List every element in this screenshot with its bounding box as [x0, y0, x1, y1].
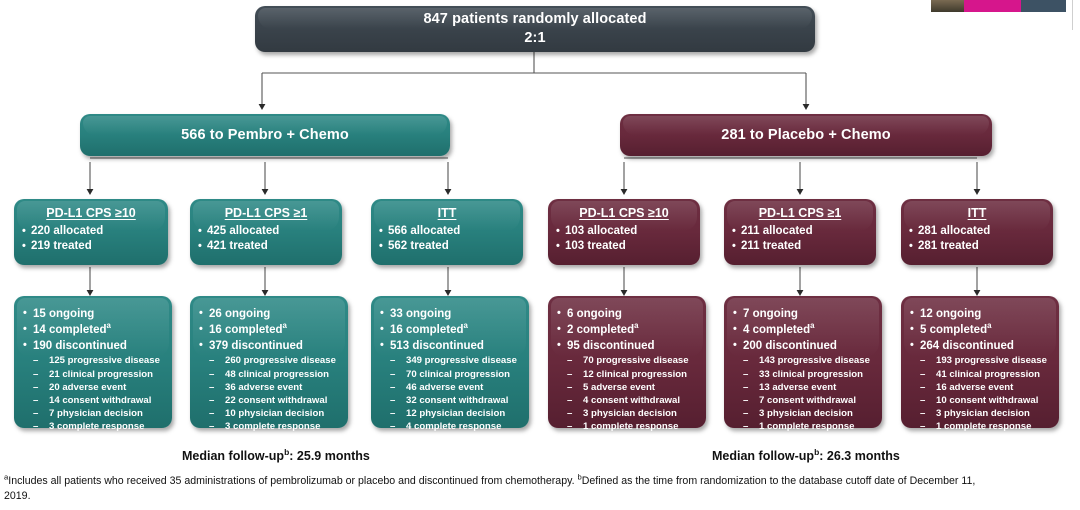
allocation-line: 211 treated: [732, 239, 868, 254]
footnote-text-a: Includes all patients who received 35 ad…: [8, 475, 577, 487]
outcome-reason: 1 complete response: [910, 420, 1053, 433]
outcome-reason: 41 clinical progression: [910, 368, 1053, 381]
allocation-line: 566 allocated: [379, 224, 515, 239]
outcome-ongoing: 15 ongoing: [23, 306, 166, 322]
outcome-ongoing: 12 ongoing: [910, 306, 1053, 322]
outcome-box-placebo-cps1: 7 ongoing 4 completeda 200 discontinued …: [724, 296, 882, 428]
median-followup-pembro-value: : 25.9 months: [289, 449, 370, 463]
median-followup-pembro-prefix: Median follow-up: [182, 449, 284, 463]
allocation-title: PD-L1 CPS ≥10: [556, 206, 692, 220]
outcome-discontinued: 264 discontinued: [910, 338, 1053, 354]
allocation-box-placebo-itt: ITT 281 allocated 281 treated: [901, 199, 1053, 265]
outcome-reason: 4 complete response: [380, 420, 523, 433]
outcome-reason: 4 consent withdrawal: [557, 394, 700, 407]
footnotes: aIncludes all patients who received 35 a…: [4, 474, 1004, 504]
outcome-reason: 3 complete response: [199, 420, 342, 433]
footnote-marker-a: a: [107, 321, 111, 330]
outcome-discontinued: 190 discontinued: [23, 338, 166, 354]
allocation-line: 103 treated: [556, 239, 692, 254]
outcome-reason: 12 physician decision: [380, 407, 523, 420]
outcome-reason: 1 complete response: [733, 420, 876, 433]
outcome-reason: 12 clinical progression: [557, 368, 700, 381]
outcome-completed-text: 16 completed: [209, 324, 283, 336]
allocation-box-pembro-itt: ITT 566 allocated 562 treated: [371, 199, 523, 265]
allocation-title: ITT: [379, 206, 515, 220]
outcome-ongoing: 6 ongoing: [557, 306, 700, 322]
outcome-discontinued: 200 discontinued: [733, 338, 876, 354]
outcome-reason: 70 progressive disease: [557, 354, 700, 367]
outcome-reason: 10 physician decision: [199, 407, 342, 420]
outcome-reason: 3 physician decision: [910, 407, 1053, 420]
outcome-ongoing: 7 ongoing: [733, 306, 876, 322]
median-followup-placebo: Median follow-upb: 26.3 months: [712, 449, 900, 463]
median-followup-placebo-value: : 26.3 months: [819, 449, 900, 463]
outcome-ongoing: 26 ongoing: [199, 306, 342, 322]
allocation-box-pembro-cps1: PD-L1 CPS ≥1 425 allocated 421 treated: [190, 199, 342, 265]
footnote-marker-a: a: [987, 321, 991, 330]
allocation-line: 211 allocated: [732, 224, 868, 239]
outcome-box-pembro-cps10: 15 ongoing 14 completeda 190 discontinue…: [14, 296, 172, 428]
outcome-reason: 5 adverse event: [557, 381, 700, 394]
allocation-title: PD-L1 CPS ≥10: [22, 206, 160, 220]
outcome-completed: 16 completeda: [380, 322, 523, 338]
footnote-marker-a: a: [464, 321, 468, 330]
allocation-title: ITT: [909, 206, 1045, 220]
arm-header-pembro: 566 to Pembro + Chemo: [80, 114, 450, 156]
outcome-discontinued: 379 discontinued: [199, 338, 342, 354]
allocation-line: 103 allocated: [556, 224, 692, 239]
allocation-line: 281 allocated: [909, 224, 1045, 239]
outcome-completed: 2 completeda: [557, 322, 700, 338]
outcome-reason: 14 consent withdrawal: [23, 394, 166, 407]
outcome-reason: 48 clinical progression: [199, 368, 342, 381]
footnote-marker-a: a: [283, 321, 287, 330]
title-line-1: 847 patients randomly allocated: [423, 11, 646, 27]
footnote-marker-a: a: [810, 321, 814, 330]
allocation-line: 562 treated: [379, 239, 515, 254]
randomization-title-box: 847 patients randomly allocated 2:1: [255, 6, 815, 52]
outcome-completed: 14 completeda: [23, 322, 166, 338]
outcome-box-pembro-itt: 33 ongoing 16 completeda 513 discontinue…: [371, 296, 529, 428]
outcome-reason: 349 progressive disease: [380, 354, 523, 367]
outcome-ongoing: 33 ongoing: [380, 306, 523, 322]
outcome-reason: 193 progressive disease: [910, 354, 1053, 367]
title-line-2: 2:1: [524, 30, 545, 46]
outcome-reason: 36 adverse event: [199, 381, 342, 394]
allocation-title: PD-L1 CPS ≥1: [198, 206, 334, 220]
arm-header-placebo: 281 to Placebo + Chemo: [620, 114, 992, 156]
arm-header-placebo-label: 281 to Placebo + Chemo: [721, 127, 890, 143]
outcome-box-placebo-cps10: 6 ongoing 2 completeda 95 discontinued 7…: [548, 296, 706, 428]
allocation-title: PD-L1 CPS ≥1: [732, 206, 868, 220]
allocation-line: 220 allocated: [22, 224, 160, 239]
outcome-reason: 20 adverse event: [23, 381, 166, 394]
outcome-reason: 32 consent withdrawal: [380, 394, 523, 407]
outcome-reason: 21 clinical progression: [23, 368, 166, 381]
median-followup-pembro: Median follow-upb: 25.9 months: [182, 449, 370, 463]
outcome-reason: 143 progressive disease: [733, 354, 876, 367]
outcome-reason: 46 adverse event: [380, 381, 523, 394]
allocation-box-placebo-cps1: PD-L1 CPS ≥1 211 allocated 211 treated: [724, 199, 876, 265]
allocation-box-pembro-cps10: PD-L1 CPS ≥10 220 allocated 219 treated: [14, 199, 168, 265]
outcome-reason: 260 progressive disease: [199, 354, 342, 367]
allocation-line: 421 treated: [198, 239, 334, 254]
outcome-reason: 13 adverse event: [733, 381, 876, 394]
footnote-marker-a: a: [634, 321, 638, 330]
allocation-line: 281 treated: [909, 239, 1045, 254]
flow-diagram-slide: 847 patients randomly allocated 2:1 566 …: [0, 0, 1080, 510]
outcome-completed: 5 completeda: [910, 322, 1053, 338]
outcome-reason: 10 consent withdrawal: [910, 394, 1053, 407]
outcome-reason: 70 clinical progression: [380, 368, 523, 381]
outcome-reason: 3 physician decision: [733, 407, 876, 420]
allocation-box-placebo-cps10: PD-L1 CPS ≥10 103 allocated 103 treated: [548, 199, 700, 265]
outcome-reason: 3 complete response: [23, 420, 166, 433]
outcome-completed: 4 completeda: [733, 322, 876, 338]
outcome-completed-text: 14 completed: [33, 324, 107, 336]
outcome-reason: 125 progressive disease: [23, 354, 166, 367]
outcome-completed-text: 4 completed: [743, 324, 810, 336]
outcome-discontinued: 95 discontinued: [557, 338, 700, 354]
median-followup-placebo-prefix: Median follow-up: [712, 449, 814, 463]
outcome-completed-text: 2 completed: [567, 324, 634, 336]
outcome-completed: 16 completeda: [199, 322, 342, 338]
outcome-completed-text: 16 completed: [390, 324, 464, 336]
outcome-box-placebo-itt: 12 ongoing 5 completeda 264 discontinued…: [901, 296, 1059, 428]
allocation-line: 219 treated: [22, 239, 160, 254]
outcome-reason: 3 physician decision: [557, 407, 700, 420]
allocation-line: 425 allocated: [198, 224, 334, 239]
outcome-box-pembro-cps1: 26 ongoing 16 completeda 379 discontinue…: [190, 296, 348, 428]
outcome-reason: 16 adverse event: [910, 381, 1053, 394]
outcome-completed-text: 5 completed: [920, 324, 987, 336]
outcome-reason: 22 consent withdrawal: [199, 394, 342, 407]
outcome-discontinued: 513 discontinued: [380, 338, 523, 354]
outcome-reason: 7 consent withdrawal: [733, 394, 876, 407]
outcome-reason: 1 complete response: [557, 420, 700, 433]
outcome-reason: 33 clinical progression: [733, 368, 876, 381]
arm-header-pembro-label: 566 to Pembro + Chemo: [181, 127, 349, 143]
outcome-reason: 7 physician decision: [23, 407, 166, 420]
